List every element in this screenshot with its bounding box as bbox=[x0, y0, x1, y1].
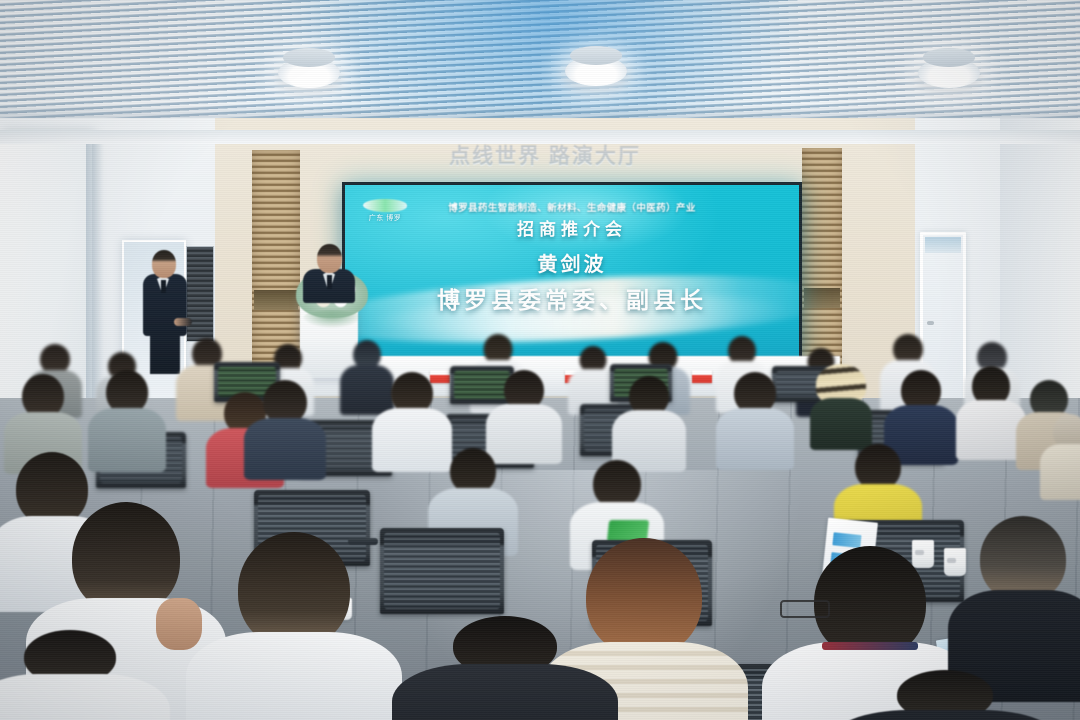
screen-headline-large: 招商推介会 bbox=[345, 215, 799, 240]
speaker-at-podium bbox=[303, 244, 355, 300]
audience-front-rows bbox=[0, 420, 1080, 720]
ceiling-light-right bbox=[918, 58, 980, 88]
screen-headline-small: 博罗县药生智能制造、新材料、生命健康（中医药）产业 bbox=[345, 200, 799, 214]
speaker-tie bbox=[327, 275, 332, 289]
list-item bbox=[186, 532, 402, 720]
screen-speaker-title: 博罗县委常委、副县长 bbox=[345, 281, 799, 315]
speaker-head bbox=[317, 244, 342, 273]
torso bbox=[186, 632, 402, 720]
list-item bbox=[0, 630, 170, 720]
torso bbox=[0, 674, 170, 720]
ceiling-light-center bbox=[565, 56, 627, 86]
wall-signage-text: 点线世界 路演大厅 bbox=[410, 140, 680, 170]
polo-collar-stripe bbox=[822, 642, 918, 650]
screen-speaker-name: 黄剑波 bbox=[345, 248, 799, 277]
wood-slat-gap bbox=[804, 288, 840, 308]
head bbox=[238, 532, 350, 648]
door-handle-icon[interactable] bbox=[927, 321, 934, 325]
host-tie bbox=[161, 280, 166, 293]
conference-photo: 点线世界 路演大厅 广东 博罗 博罗县药生智能制造、新材料、生命健康（中医药）产… bbox=[0, 0, 1080, 720]
torso bbox=[830, 710, 1060, 720]
glasses-icon bbox=[780, 600, 830, 618]
torso bbox=[392, 664, 618, 720]
ceiling-light-left bbox=[278, 58, 340, 88]
list-item bbox=[830, 670, 1060, 720]
list-item bbox=[948, 516, 1080, 696]
host-head bbox=[152, 250, 176, 278]
door-transom-window bbox=[925, 237, 961, 253]
air-vent-grille bbox=[186, 246, 214, 342]
host-hand-holding-device bbox=[174, 318, 192, 326]
list-item bbox=[392, 616, 618, 720]
wood-slat-gap bbox=[254, 290, 298, 310]
